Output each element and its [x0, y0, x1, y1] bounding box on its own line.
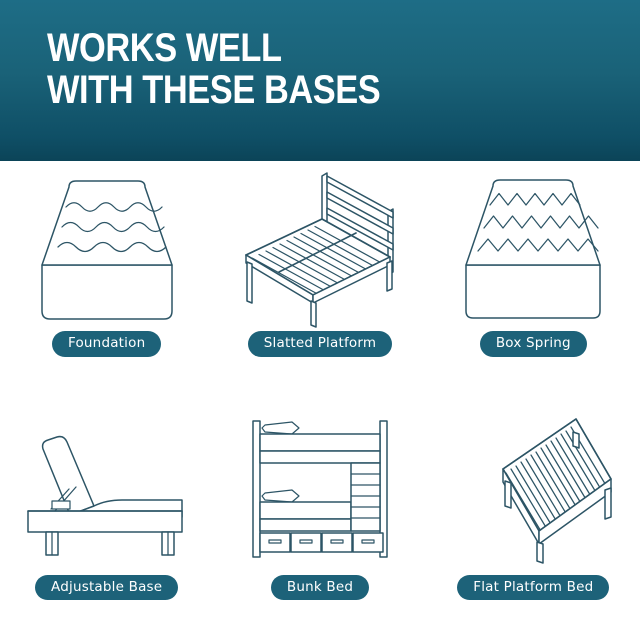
base-label-bunk-bed: Bunk Bed	[271, 575, 369, 601]
base-label-foundation: Foundation	[52, 331, 161, 357]
bunk-bed-icon	[225, 409, 415, 569]
base-card-foundation[interactable]: Foundation	[0, 161, 213, 401]
page-title-line-1: WORKS WELL	[47, 26, 282, 70]
header-banner: WORKS WELLWITH THESE BASES	[0, 0, 640, 161]
base-label-flat-platform-bed: Flat Platform Bed	[457, 575, 609, 601]
base-label-box-spring: Box Spring	[480, 331, 587, 357]
base-card-box-spring[interactable]: Box Spring	[427, 161, 640, 401]
base-card-adjustable-base[interactable]: Adjustable Base	[0, 401, 213, 640]
flat-platform-bed-icon	[438, 409, 628, 569]
base-label-slatted-platform: Slatted Platform	[248, 331, 392, 357]
foundation-mattress-icon	[12, 169, 202, 329]
page-title: WORKS WELLWITH THESE BASES	[47, 27, 380, 111]
box-spring-icon	[438, 169, 628, 329]
page-title-line-2: WITH THESE BASES	[47, 68, 380, 112]
base-card-bunk-bed[interactable]: Bunk Bed	[213, 401, 426, 640]
adjustable-base-icon	[12, 409, 202, 569]
works-well-with-bases-infographic: WORKS WELLWITH THESE BASES Foundation	[0, 0, 640, 640]
base-label-adjustable-base: Adjustable Base	[35, 575, 178, 601]
base-card-slatted-platform[interactable]: Slatted Platform	[213, 161, 426, 401]
slatted-platform-bed-icon	[225, 169, 415, 329]
bases-grid: Foundation	[0, 161, 640, 640]
base-card-flat-platform-bed[interactable]: Flat Platform Bed	[427, 401, 640, 640]
